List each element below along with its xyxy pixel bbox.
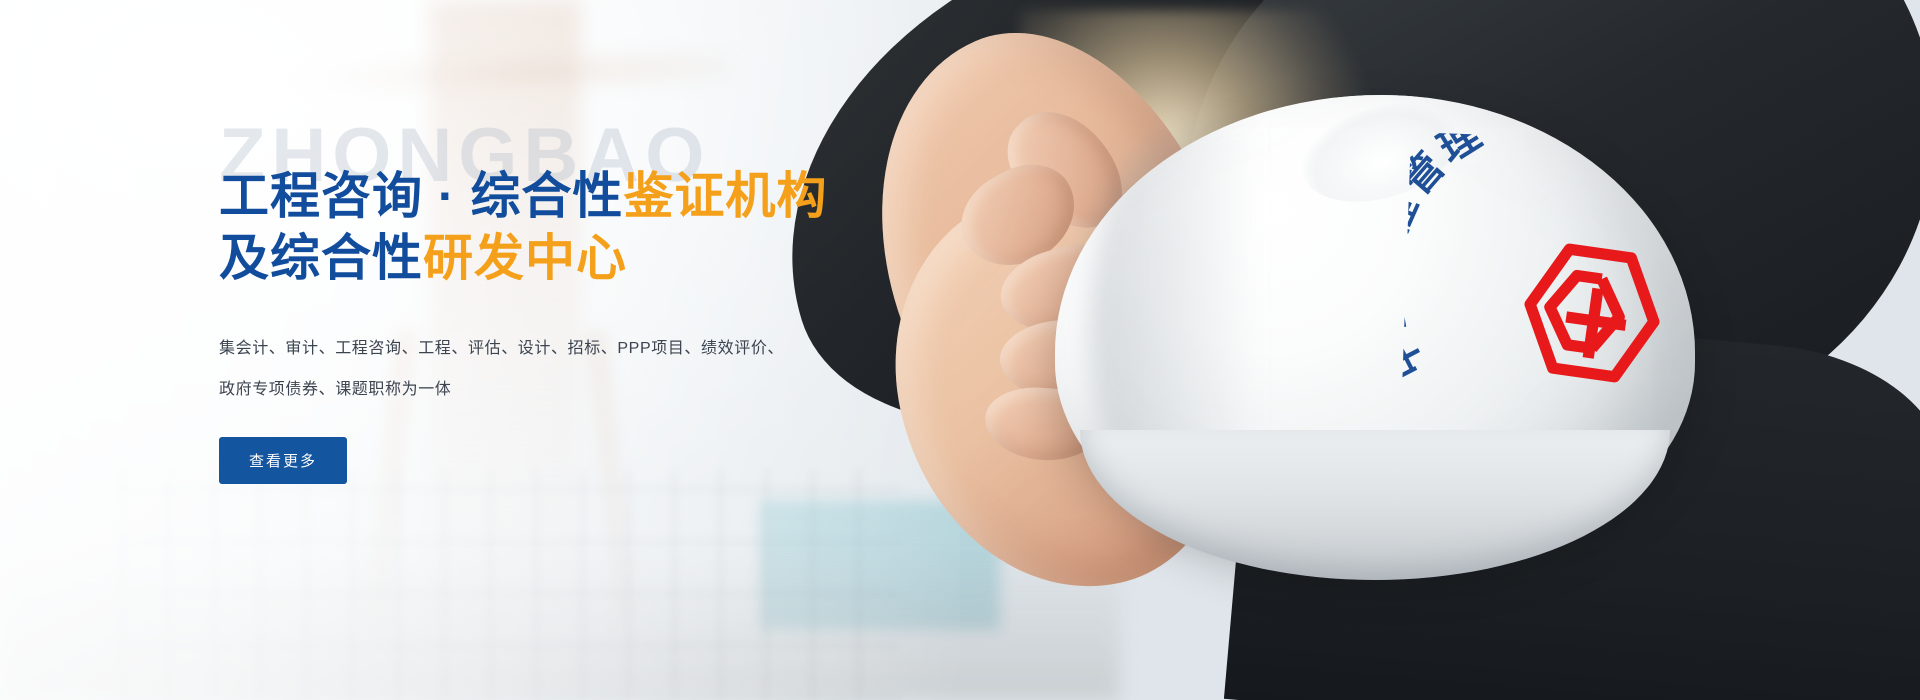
headline-l1-part-1: 工程咨询 (219, 168, 423, 224)
headline-l2-part-1: 及综合性 (219, 230, 423, 286)
headline: 工程咨询 · 综合性鉴证机构 及综合性研发中心 (219, 118, 939, 289)
hero-banner: 中宝工程管理 ZHONGBAO 工程咨询 · 综合性鉴证机构 及综合性研发中心 (0, 0, 1920, 700)
zhongbao-hexagon-logo-icon (1507, 228, 1676, 397)
headline-l1-highlight: 鉴证机构 (623, 168, 827, 224)
subtitle-line-1: 集会计、审计、工程咨询、工程、评估、设计、招标、PPP项目、绩效评价、 (219, 329, 819, 370)
view-more-button[interactable]: 查看更多 (219, 437, 347, 484)
headline-separator-dot: · (423, 168, 470, 224)
headline-line-1: 工程咨询 · 综合性鉴证机构 (219, 166, 939, 228)
headline-l2-highlight: 研发中心 (423, 230, 627, 286)
helmet-brand-label: 中宝工程管理 (1399, 132, 1494, 388)
headline-l1-part-2: 综合性 (470, 168, 623, 224)
subtitle: 集会计、审计、工程咨询、工程、评估、设计、招标、PPP项目、绩效评价、 政府专项… (219, 329, 819, 411)
subtitle-line-2: 政府专项债券、课题职称为一体 (219, 370, 819, 411)
hero-content: ZHONGBAO 工程咨询 · 综合性鉴证机构 及综合性研发中心 集会计、审计、… (219, 118, 939, 484)
headline-line-2: 及综合性研发中心 (219, 228, 939, 290)
